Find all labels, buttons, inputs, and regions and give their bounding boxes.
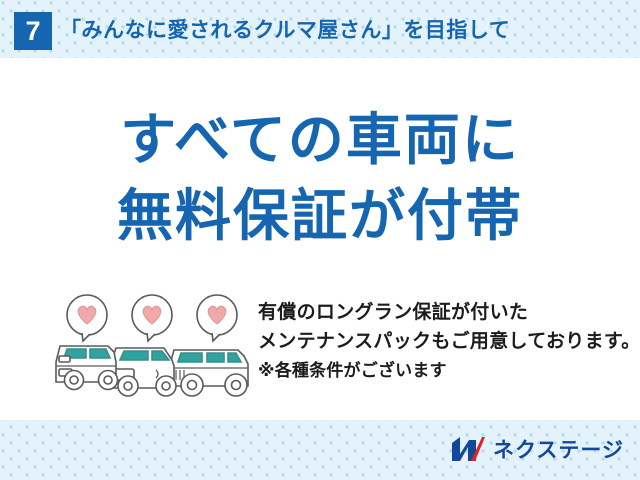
- headline-line-1: すべての車両に: [0, 102, 640, 178]
- brand-logo: ネクステージ: [451, 434, 624, 464]
- heart-bubble-2: [132, 295, 172, 341]
- cars-illustration: [52, 290, 252, 402]
- body-line-1: 有償のロングラン保証が付いた: [258, 298, 630, 327]
- body-line-2: メンテナンスパックもご用意しております。: [258, 327, 630, 356]
- nextage-n-logo-icon: [451, 436, 485, 462]
- content-panel: すべての車両に 無料保証が付帯: [0, 58, 640, 420]
- body-line-3-note: ※各種条件がございます: [258, 356, 630, 385]
- footer: ネクステージ: [0, 420, 640, 480]
- car-kei-box: [56, 346, 118, 390]
- car-minivan: [110, 348, 176, 396]
- brand-name: ネクステージ: [493, 434, 624, 464]
- car-suv: [170, 350, 248, 396]
- header: 7 「みんなに愛されるクルマ屋さん」を目指して: [0, 0, 640, 58]
- headline-line-2: 無料保証が付帯: [0, 178, 640, 254]
- headline: すべての車両に 無料保証が付帯: [0, 102, 640, 254]
- heart-bubble-1: [67, 295, 107, 341]
- body-copy: 有償のロングラン保証が付いた メンテナンスパックもご用意しております。 ※各種条…: [258, 298, 630, 385]
- lower-section: 有償のロングラン保証が付いた メンテナンスパックもご用意しております。 ※各種条…: [0, 290, 640, 420]
- promo-banner: 7 「みんなに愛されるクルマ屋さん」を目指して すべての車両に 無料保証が付帯: [0, 0, 640, 480]
- header-title: 「みんなに愛されるクルマ屋さん」を目指して: [60, 12, 510, 50]
- heart-bubble-3: [197, 295, 237, 341]
- section-number-badge: 7: [14, 12, 52, 50]
